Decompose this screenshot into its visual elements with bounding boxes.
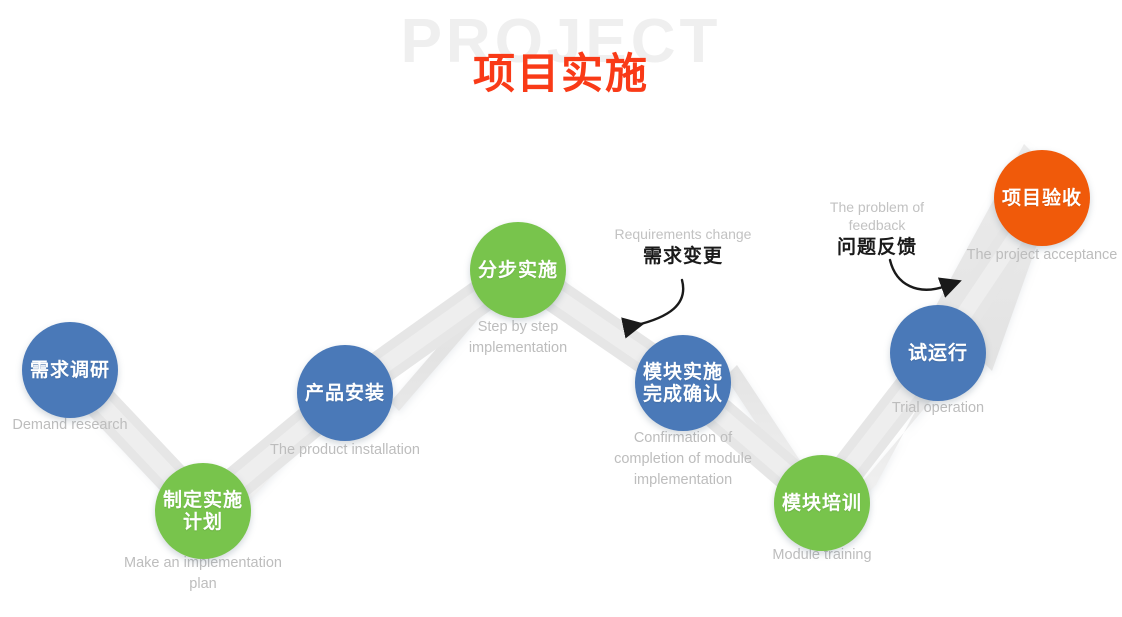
requirements-change-arrow	[628, 280, 683, 327]
slide-canvas: PROJECT 项目实施	[0, 0, 1122, 617]
problem-feedback-arrow	[890, 260, 946, 290]
annotation-cn-label: 问题反馈	[802, 234, 952, 261]
annotation-en-label: The problem of feedback	[802, 198, 952, 234]
annotation-en-label: Requirements change	[608, 225, 758, 243]
annotation-cn-label: 需求变更	[608, 243, 758, 270]
annotation-arrows	[0, 0, 1122, 617]
annotation-requirements-change: Requirements change 需求变更	[608, 225, 758, 270]
annotation-problem-feedback: The problem of feedback 问题反馈	[802, 198, 952, 261]
